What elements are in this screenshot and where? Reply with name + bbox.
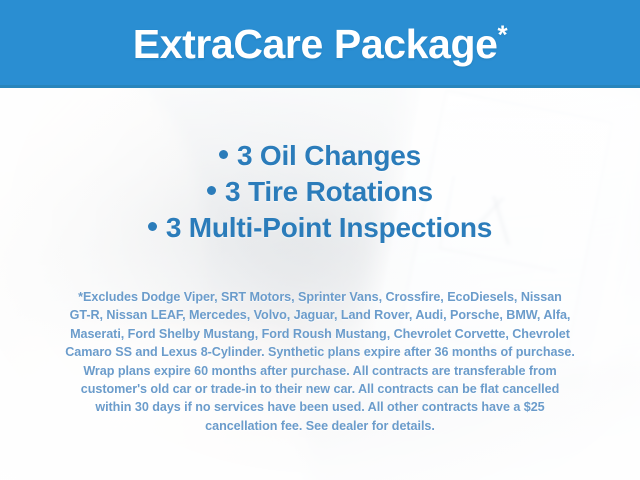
bullet-dot-icon [219, 150, 228, 159]
benefit-item-label: 3 Oil Changes [237, 140, 421, 171]
benefit-item-label: 3 Tire Rotations [225, 176, 433, 207]
fine-print-line: *Excludes Dodge Viper, SRT Motors, Sprin… [22, 288, 618, 306]
benefit-item-oil-changes: 3 Oil Changes [0, 138, 640, 174]
benefit-list: 3 Oil Changes 3 Tire Rotations 3 Multi-P… [0, 138, 640, 246]
fine-print-line: GT-R, Nissan LEAF, Mercedes, Volvo, Jagu… [22, 306, 618, 324]
benefit-item-multi-point-inspections: 3 Multi-Point Inspections [0, 210, 640, 246]
header-banner: ExtraCare Package* [0, 0, 640, 88]
fine-print-line: Wrap plans expire 60 months after purcha… [22, 362, 618, 380]
benefit-item-label: 3 Multi-Point Inspections [166, 212, 492, 243]
bullet-dot-icon [207, 186, 216, 195]
fine-print-line: customer's old car or trade-in to their … [22, 380, 618, 398]
fine-print-line: Maserati, Ford Shelby Mustang, Ford Rous… [22, 325, 618, 343]
benefit-item-tire-rotations: 3 Tire Rotations [0, 174, 640, 210]
fine-print-line: within 30 days if no services have been … [22, 398, 618, 416]
page-title-asterisk: * [498, 19, 508, 49]
bullet-dot-icon [148, 222, 157, 231]
fine-print-disclaimer: *Excludes Dodge Viper, SRT Motors, Sprin… [22, 288, 618, 435]
extracare-package-promo-card: ExtraCare Package* 3 Oil Changes 3 Tire … [0, 0, 640, 480]
fine-print-line: cancellation fee. See dealer for details… [22, 417, 618, 435]
page-title-text: ExtraCare Package [133, 21, 498, 67]
fine-print-line: Camaro SS and Lexus 8-Cylinder. Syntheti… [22, 343, 618, 361]
page-title: ExtraCare Package* [133, 24, 507, 65]
